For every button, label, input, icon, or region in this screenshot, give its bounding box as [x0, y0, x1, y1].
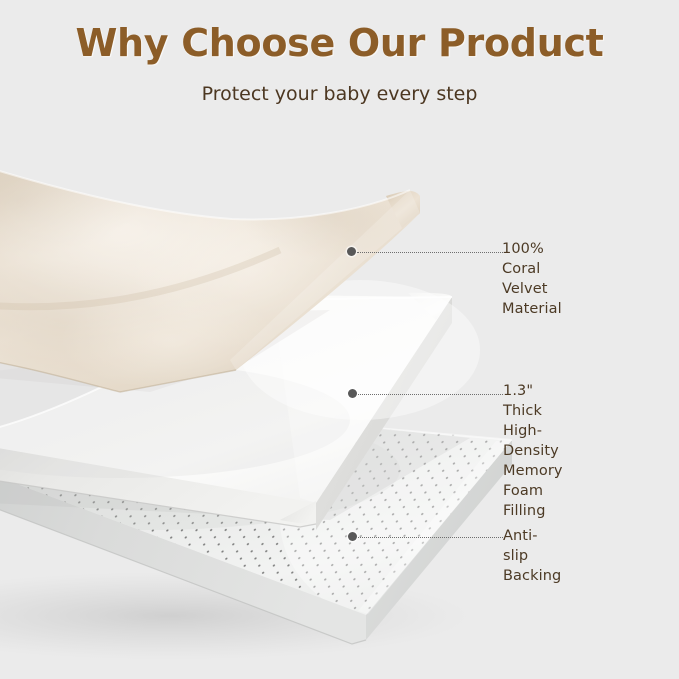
callout-marker-dot[interactable]	[347, 247, 356, 256]
callout-label-anti-slip: Anti-slip Backing	[503, 526, 561, 586]
callout-label-coral-velvet: 100% Coral Velvet Material	[502, 239, 562, 319]
callout-leader-line	[358, 394, 503, 395]
infographic-canvas: Why Choose Our Product Protect your baby…	[0, 0, 679, 679]
callout-marker-dot[interactable]	[348, 532, 357, 541]
page-subtitle: Protect your baby every step	[0, 65, 679, 105]
callout-marker-dot[interactable]	[348, 389, 357, 398]
page-title: Why Choose Our Product	[0, 0, 679, 65]
header: Why Choose Our Product Protect your baby…	[0, 0, 679, 105]
callout-label-memory-foam: 1.3" Thick High-Density Memory Foam Fill…	[503, 381, 563, 521]
callout-leader-line	[358, 537, 503, 538]
callout-leader-line	[357, 252, 503, 253]
